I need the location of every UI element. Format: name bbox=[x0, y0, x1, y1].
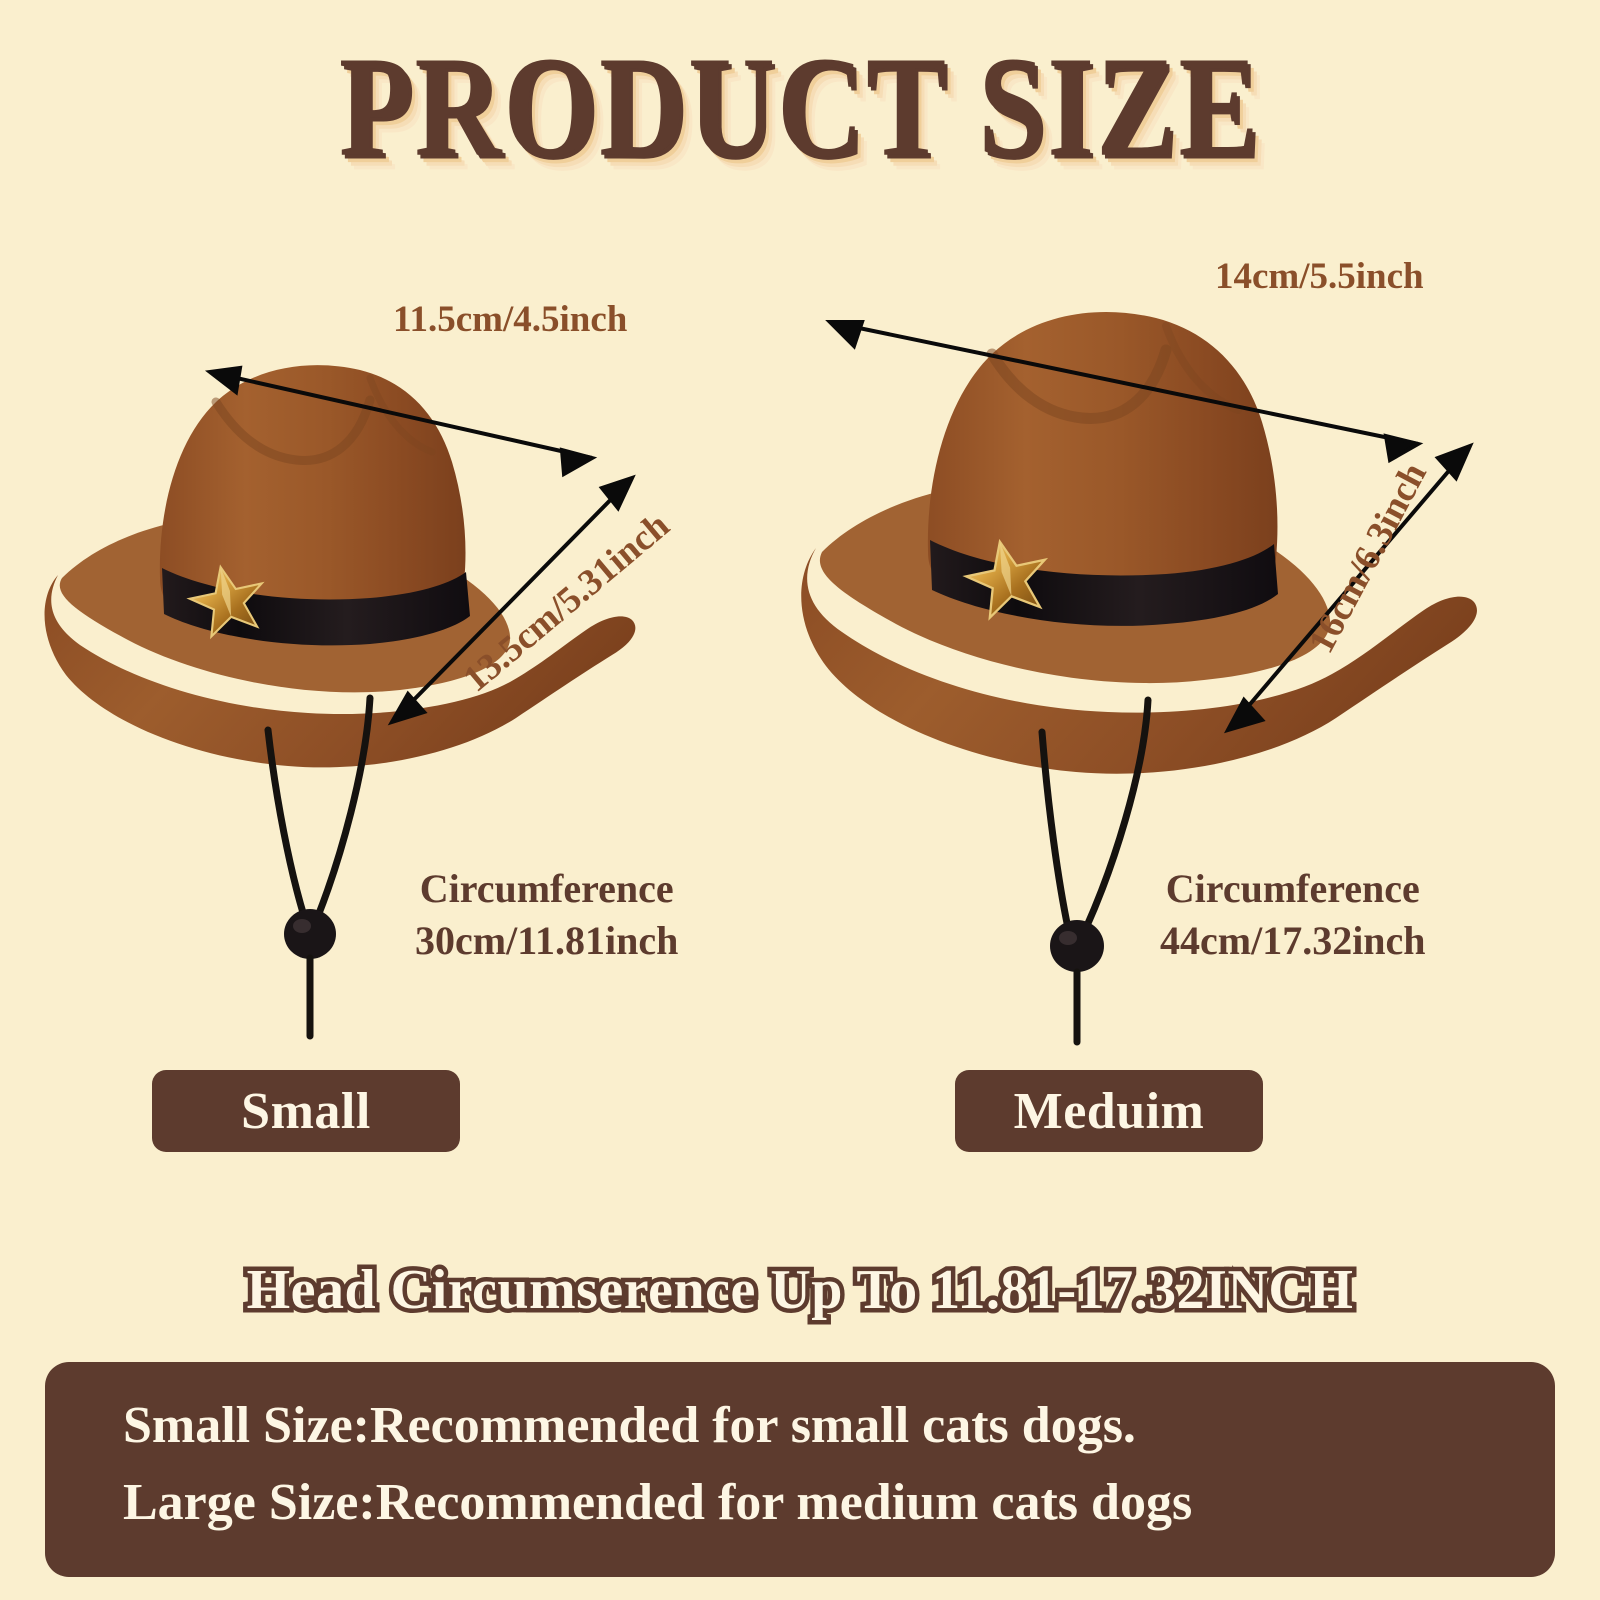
size-badge-small: Small bbox=[152, 1070, 460, 1152]
cord-toggle-highlight bbox=[1059, 931, 1077, 945]
circumference-block-small: Circumference 30cm/11.81inch bbox=[415, 863, 678, 967]
dimension-label-medium-width: 14cm/5.5inch bbox=[1215, 255, 1424, 298]
recommendation-note-box: Small Size:Recommended for small cats do… bbox=[45, 1362, 1555, 1577]
size-badge-medium: Meduim bbox=[955, 1070, 1263, 1152]
head-circumference-headline: Head Circumserence Up To 11.81-17.32INCH bbox=[0, 1258, 1600, 1322]
circumference-value-small: 30cm/11.81inch bbox=[415, 915, 678, 967]
circumference-value-medium: 44cm/17.32inch bbox=[1160, 915, 1426, 967]
circumference-title-small: Circumference bbox=[415, 863, 678, 915]
page-title: PRODUCT SIZE bbox=[339, 34, 1261, 181]
cord-toggle-bead bbox=[1050, 920, 1104, 972]
product-size-infographic: PRODUCT SIZE bbox=[0, 0, 1600, 1600]
circumference-block-medium: Circumference 44cm/17.32inch bbox=[1160, 863, 1426, 967]
cord-toggle-bead bbox=[284, 909, 336, 959]
cord-toggle-highlight bbox=[293, 919, 311, 933]
note-line-large: Large Size:Recommended for medium cats d… bbox=[123, 1465, 1555, 1542]
circumference-title-medium: Circumference bbox=[1160, 863, 1426, 915]
note-line-small: Small Size:Recommended for small cats do… bbox=[123, 1388, 1555, 1465]
dimension-label-small-width: 11.5cm/4.5inch bbox=[393, 298, 627, 341]
page-title-wrapper: PRODUCT SIZE bbox=[0, 34, 1600, 154]
